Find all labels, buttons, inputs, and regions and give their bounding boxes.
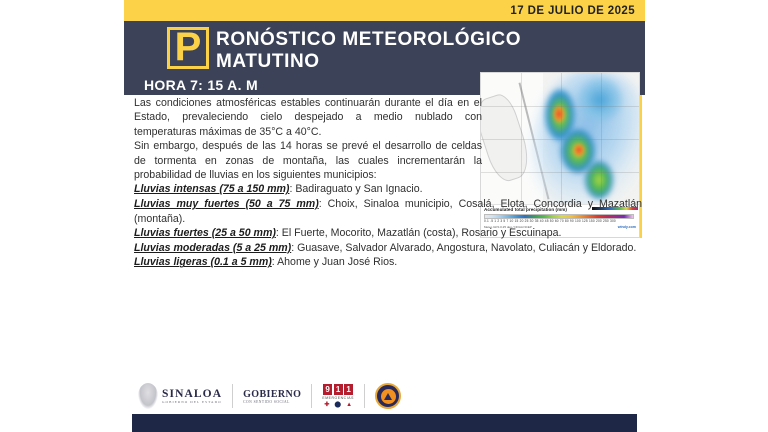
paragraph-storms: Sin embargo, después de las 14 horas se …: [134, 139, 482, 182]
emergency-digits: 9 1 1: [323, 384, 353, 395]
title-line-1: RONÓSTICO METEOROLÓGICO: [216, 29, 636, 51]
gobierno-subtitle: CON SENTIDO SOCIAL: [243, 400, 301, 404]
proteccion-civil-logo: [375, 383, 401, 409]
footer-logos: SINALOA GOBIERNO DEL ESTADO GOBIERNO CON…: [124, 378, 645, 414]
rain-category-row: Lluvias fuertes (25 a 50 mm): El Fuerte,…: [134, 226, 642, 241]
gobierno-name: GOBIERNO: [243, 389, 301, 400]
sinaloa-emblem-icon: [138, 383, 158, 409]
emergency-word: EMERGENCIAS: [322, 396, 354, 400]
sinaloa-logo: SINALOA GOBIERNO DEL ESTADO: [138, 383, 222, 409]
rain-category-label: Lluvias intensas (75 a 150 mm): [134, 183, 289, 195]
logo-divider: [364, 384, 365, 408]
logo-divider: [311, 384, 312, 408]
police-helmet-icon: ⬤: [334, 402, 341, 408]
fire-icon: ▲: [346, 402, 352, 408]
rain-category-municipalities: Badiraguato y San Ignacio.: [292, 183, 422, 195]
gobierno-logo: GOBIERNO CON SENTIDO SOCIAL: [243, 389, 301, 404]
title-line-2: MATUTINO: [216, 51, 636, 73]
rain-category-label: Lluvias fuertes (25 a 50 mm): [134, 227, 276, 239]
sinaloa-wordmark: SINALOA GOBIERNO DEL ESTADO: [162, 388, 222, 405]
forecast-hour: HORA 7: 15 A. M: [144, 77, 258, 93]
emergency-911-logo: 9 1 1 EMERGENCIAS ✚ ⬤ ▲: [322, 384, 354, 408]
rain-category-row: Lluvias ligeras (0.1 a 5 mm): Ahome y Ju…: [134, 255, 642, 270]
proteccion-civil-triangle-icon: [384, 393, 392, 400]
rain-category-municipalities: Guasave, Salvador Alvarado, Angostura, N…: [294, 242, 636, 254]
bottom-navy-bar: [132, 414, 637, 432]
medical-cross-icon: ✚: [324, 402, 329, 408]
emergency-digit: 1: [334, 384, 343, 395]
rain-category-row: Lluvias moderadas (5 a 25 mm): Guasave, …: [134, 241, 642, 256]
forecast-date: 17 DE JULIO DE 2025: [510, 5, 635, 17]
rain-category-label: Lluvias ligeras (0.1 a 5 mm): [134, 256, 272, 268]
rain-category-row: Lluvias intensas (75 a 150 mm): Badiragu…: [134, 182, 642, 197]
rain-category-label: Lluvias moderadas (5 a 25 mm): [134, 242, 291, 254]
title-block: RONÓSTICO METEOROLÓGICO MATUTINO: [216, 29, 636, 73]
body-text: Las condiciones atmosféricas estables co…: [128, 96, 640, 270]
logo-p-box: P: [167, 27, 209, 69]
logo-letter: P: [175, 29, 202, 65]
emergency-digit: 9: [323, 384, 332, 395]
forecast-poster: 17 DE JULIO DE 2025 P RONÓSTICO METEOROL…: [124, 0, 645, 432]
proteccion-civil-inner: [381, 389, 396, 404]
sinaloa-name: SINALOA: [162, 388, 222, 400]
paragraph-conditions: Las condiciones atmosféricas estables co…: [134, 96, 482, 139]
rain-category-municipalities: Ahome y Juan José Rios.: [275, 256, 397, 268]
rain-category-municipalities: El Fuerte, Mocorito, Mazatlán (costa), R…: [279, 227, 562, 239]
rain-category-label: Lluvias muy fuertes (50 a 75 mm): [134, 198, 319, 210]
emergency-digit: 1: [344, 384, 353, 395]
date-bar: 17 DE JULIO DE 2025: [124, 0, 645, 21]
emergency-service-icons: ✚ ⬤ ▲: [324, 402, 352, 408]
logo-divider: [232, 384, 233, 408]
rain-category-row: Lluvias muy fuertes (50 a 75 mm): Choix,…: [134, 197, 642, 226]
sinaloa-subtitle: GOBIERNO DEL ESTADO: [162, 400, 222, 404]
